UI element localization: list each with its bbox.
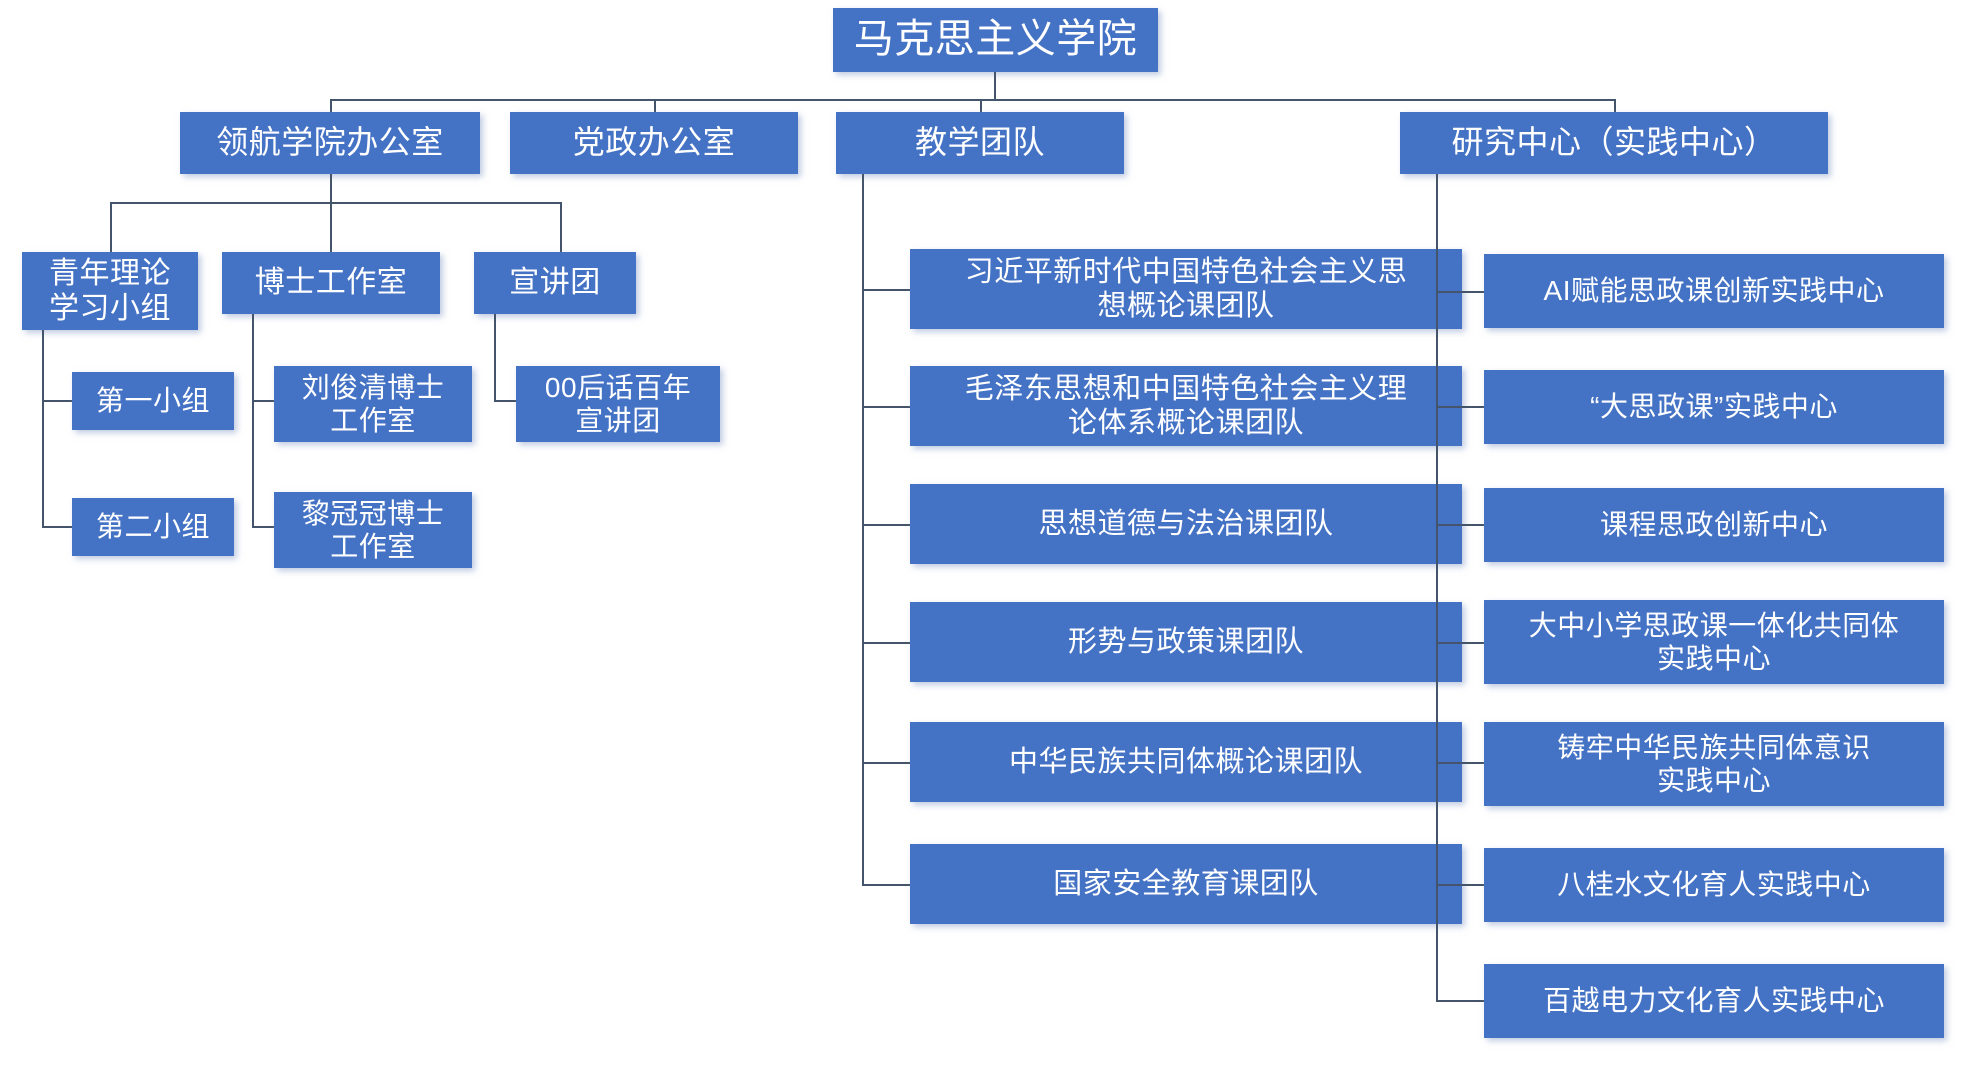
node-root[interactable]: 马克思主义学院 (833, 8, 1158, 72)
connector-teaching-arm-4 (862, 642, 910, 644)
connector-drop-l2-4 (1614, 99, 1616, 112)
connector-doctor-arm-2 (252, 526, 274, 528)
connector-research-arm-1 (1436, 291, 1484, 293)
connector-research-arm-3 (1436, 524, 1484, 526)
connector-youth-arm-1 (42, 400, 72, 402)
node-youth-theory-study-group[interactable]: 青年理论 学习小组 (22, 252, 198, 330)
connector-research-arm-6 (1436, 884, 1484, 886)
node-teaching-team-xi-thought[interactable]: 习近平新时代中国特色社会主义思 想概论课团队 (910, 249, 1462, 329)
connector-drop-l2-1 (330, 99, 332, 112)
connector-drop-l2-2 (654, 99, 656, 112)
connector-teaching-arm-2 (862, 406, 910, 408)
node-center-integrated-schooling[interactable]: 大中小学思政课一体化共同体 实践中心 (1484, 600, 1944, 684)
connector-teaching-arm-3 (862, 524, 910, 526)
connector-drop-l2-3 (980, 99, 982, 112)
node-navigation-college-office[interactable]: 领航学院办公室 (180, 112, 480, 174)
node-center-national-community-consciousness[interactable]: 铸牢中华民族共同体意识 实践中心 (1484, 722, 1944, 806)
node-teaching-team-situation-policy[interactable]: 形势与政策课团队 (910, 602, 1462, 682)
connector-teaching-arm-1 (862, 289, 910, 291)
node-youth-group-2[interactable]: 第二小组 (72, 498, 234, 556)
org-chart-canvas: 马克思主义学院 领航学院办公室 党政办公室 教学团队 研究中心（实践中心） 青年… (0, 0, 1986, 1066)
node-teaching-team-national-security[interactable]: 国家安全教育课团队 (910, 844, 1462, 924)
node-lecture-troupe-00s[interactable]: 00后话百年 宣讲团 (516, 366, 720, 442)
node-research-centers[interactable]: 研究中心（实践中心） (1400, 112, 1828, 174)
connector-research-rail (1436, 174, 1438, 1000)
connector-teaching-arm-6 (862, 884, 910, 886)
connector-lecture-arm-1 (494, 400, 516, 402)
connector-root-stem (994, 72, 996, 99)
connector-research-arm-5 (1436, 762, 1484, 764)
connector-doctor-arm-1 (252, 400, 274, 402)
node-teaching-team-ethics-law[interactable]: 思想道德与法治课团队 (910, 484, 1462, 564)
node-doctor-studio-liujunqing[interactable]: 刘俊清博士 工作室 (274, 366, 472, 442)
connector-youth-rail (42, 330, 44, 526)
node-teaching-teams[interactable]: 教学团队 (836, 112, 1124, 174)
node-doctor-studio[interactable]: 博士工作室 (222, 252, 440, 314)
connector-navoffice-bus (110, 202, 560, 204)
connector-drop-nav-1 (110, 202, 112, 252)
connector-research-arm-2 (1436, 406, 1484, 408)
node-party-government-office[interactable]: 党政办公室 (510, 112, 798, 174)
node-lecture-troupe[interactable]: 宣讲团 (474, 252, 636, 314)
node-teaching-team-chinese-nation[interactable]: 中华民族共同体概论课团队 (910, 722, 1462, 802)
connector-drop-nav-2 (330, 202, 332, 252)
connector-research-arm-7 (1436, 1000, 1484, 1002)
node-center-bagui-water-culture[interactable]: 八桂水文化育人实践中心 (1484, 848, 1944, 922)
node-center-ai-ideology[interactable]: AI赋能思政课创新实践中心 (1484, 254, 1944, 328)
connector-doctor-rail (252, 314, 254, 526)
connector-youth-arm-2 (42, 526, 72, 528)
connector-root-bus (330, 99, 1615, 101)
connector-drop-nav-3 (560, 202, 562, 252)
node-center-great-ideology-course[interactable]: “大思政课”实践中心 (1484, 370, 1944, 444)
node-teaching-team-mao-thought[interactable]: 毛泽东思想和中国特色社会主义理 论体系概论课团队 (910, 366, 1462, 446)
node-center-baiyue-power-culture[interactable]: 百越电力文化育人实践中心 (1484, 964, 1944, 1038)
connector-teaching-rail (862, 174, 864, 886)
connector-teaching-arm-5 (862, 762, 910, 764)
connector-research-arm-4 (1436, 642, 1484, 644)
connector-navoffice-stem (330, 174, 332, 202)
node-doctor-studio-liguanguan[interactable]: 黎冠冠博士 工作室 (274, 492, 472, 568)
node-center-curriculum-ideology[interactable]: 课程思政创新中心 (1484, 488, 1944, 562)
node-youth-group-1[interactable]: 第一小组 (72, 372, 234, 430)
connector-lecture-rail (494, 314, 496, 400)
